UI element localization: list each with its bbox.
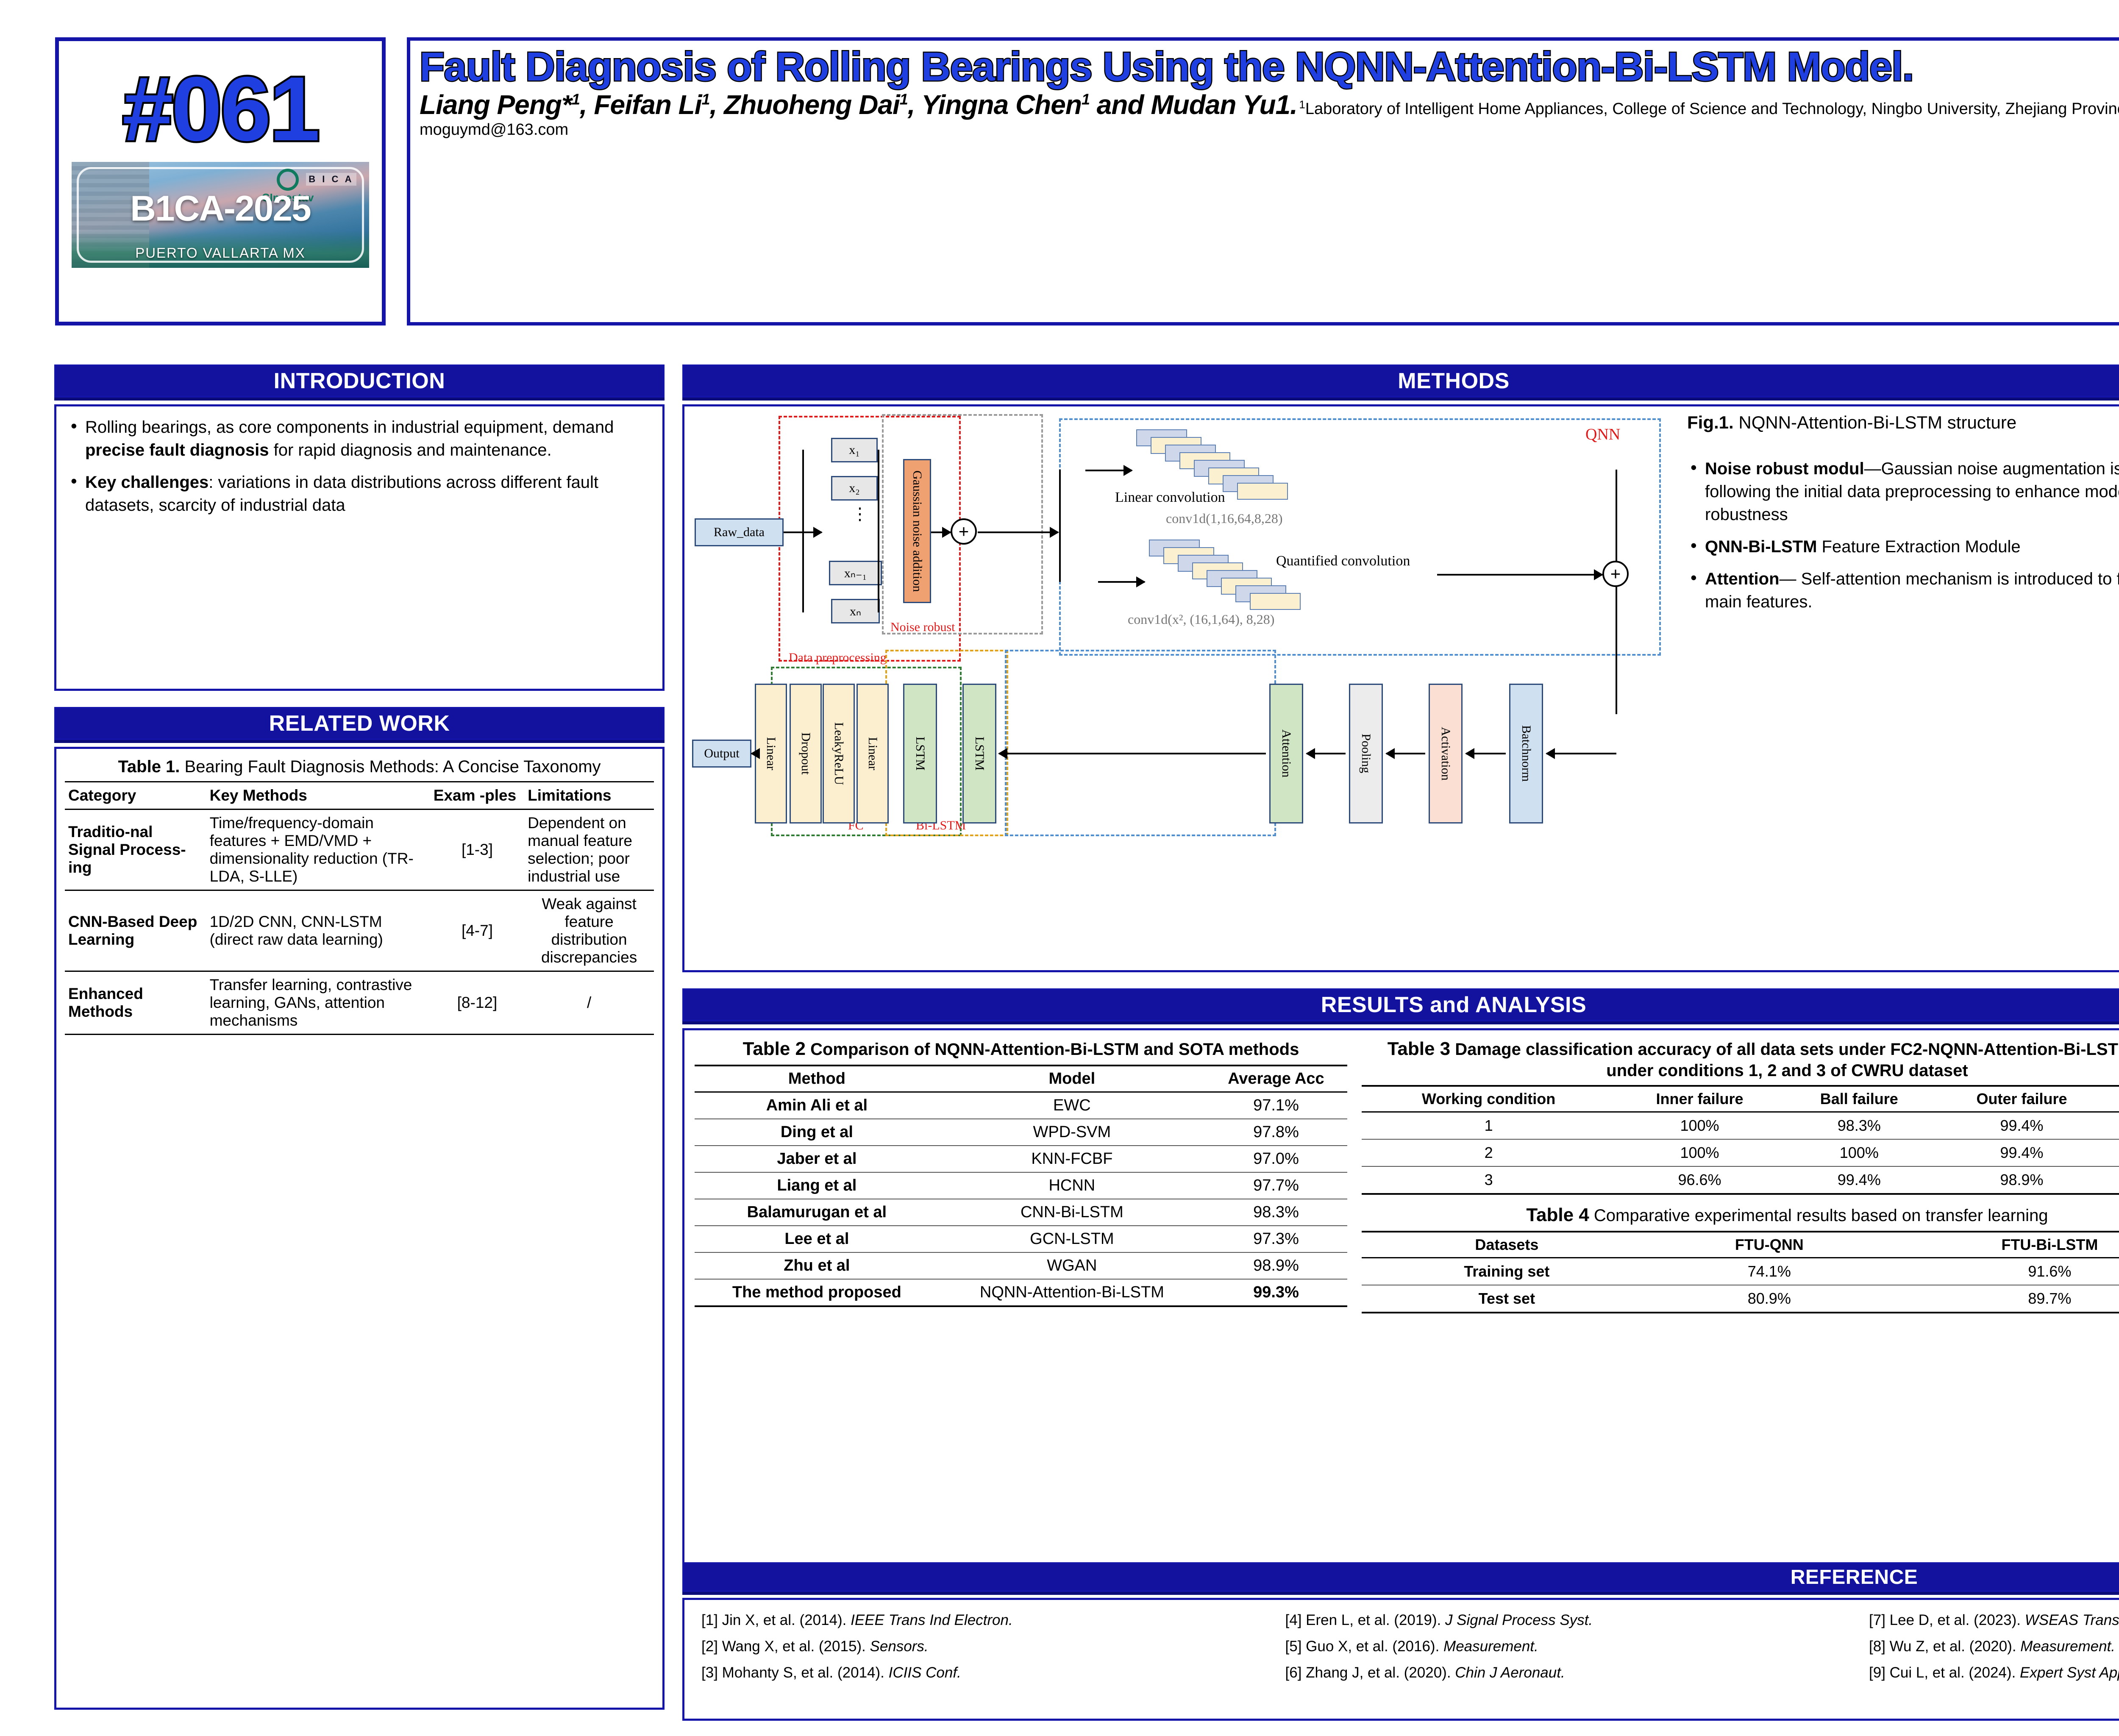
node-output: Output [692, 740, 751, 768]
table-header-row: Datasets FTU-QNN FTU-Bi-LSTM [1362, 1232, 2119, 1258]
group-qnn-lower [1005, 650, 1276, 836]
ref-source: Measurement. [1443, 1638, 1538, 1655]
ref-num: [6] Zhang J, et al. (2020). [1285, 1664, 1455, 1681]
methods-bullet-2-text: Feature Extraction Module [1817, 537, 2020, 556]
col-datasets: Datasets [1362, 1232, 1652, 1258]
ref-num: [7] Lee D, et al. (2023). [1869, 1612, 2025, 1628]
cell-dataset: Test set [1362, 1285, 1652, 1313]
col-model: Model [939, 1066, 1205, 1092]
col-ftu-bilstm: FTU-Bi-LSTM [1887, 1232, 2119, 1258]
node-lstm-2: LSTM [962, 684, 996, 823]
cell-acc: 98.3% [1205, 1199, 1347, 1226]
group-label-qnn: QNN [1585, 425, 1620, 444]
table-row: Traditio-nal Signal Process-ing Time/fre… [65, 810, 654, 890]
reference-item: [8] Wu Z, et al. (2020). Measurement. [1869, 1638, 2119, 1655]
introduction-bullets: Rolling bearings, as core components in … [67, 416, 651, 517]
ellipsis-vertical: ⋮ [851, 510, 868, 518]
table-row: 396.6%99.4%98.9%99.6% [1362, 1166, 2119, 1194]
node-activation: Activation [1429, 684, 1463, 823]
cell-ball: 98.3% [1784, 1112, 1935, 1139]
col-inner-failure: Inner failure [1616, 1086, 1784, 1112]
table1-caption-label: Table 1. [118, 757, 180, 776]
reference-body: [1] Jin X, et al. (2014). IEEE Trans Ind… [682, 1598, 2119, 1721]
section-header-methods: METHODS [682, 364, 2119, 398]
table3-caption-text: Damage classification accuracy of all da… [1450, 1040, 2119, 1080]
conference-title: B1CA-2025 [72, 188, 369, 229]
figure1-caption-label: Fig.1. [1687, 412, 1734, 432]
architecture-diagram: Data preprocessing Noise robust QNN FC B… [691, 412, 1674, 840]
split-bus [802, 450, 804, 612]
node-leakyrelu: LeakyReLU [823, 684, 855, 823]
cell-cond: 2 [1362, 1139, 1616, 1166]
arrow-sum-down [1616, 587, 1617, 714]
list-item: Key challenges: variations in data distr… [67, 471, 651, 517]
table4-caption-text: Comparative experimental results based o… [1589, 1206, 2048, 1225]
node-sum-2: + [1602, 561, 1629, 587]
methods-bullet-3-bold: Attention [1705, 570, 1780, 588]
arrow-act-to-pool [1386, 753, 1425, 754]
table-header-row: Working condition Inner failure Ball fai… [1362, 1086, 2119, 1112]
table4-caption: Table 4 Comparative experimental results… [1362, 1204, 2119, 1227]
node-x2: x₂ [831, 476, 878, 501]
table1-caption: Table 1. Bearing Fault Diagnosis Methods… [65, 757, 654, 777]
reference-item: [1] Jin X, et al. (2014). IEEE Trans Ind… [701, 1612, 1256, 1629]
cell-outer: 98.9% [1935, 1166, 2109, 1194]
table2-caption-text: Comparison of NQNN-Attention-Bi-LSTM and… [806, 1040, 1299, 1059]
ref-num: [8] Wu Z, et al. (2020). [1869, 1638, 2020, 1655]
cell-method: The method proposed [695, 1279, 939, 1306]
cell-acc: 98.9% [1205, 1252, 1347, 1279]
page-title: Fault Diagnosis of Rolling Bearings Usin… [420, 47, 2119, 87]
cell-ball: 99.4% [1784, 1166, 1935, 1194]
cell-methods: Time/frequency-domain features + EMD/VMD… [206, 810, 430, 890]
results-body: Table 2 Comparison of NQNN-Attention-Bi-… [682, 1028, 2119, 1572]
cell-category: Enhanced Methods [65, 971, 206, 1035]
conference-city: PUERTO VALLARTA MX [72, 245, 369, 261]
section-header-results: RESULTS and ANALYSIS [682, 988, 2119, 1021]
cell-method: Ding et al [695, 1119, 939, 1146]
arrow-sum-to-bn [1546, 753, 1616, 754]
col-ftu-qnn: FTU-QNN [1652, 1232, 1887, 1258]
cell-examples: [4-7] [430, 890, 524, 971]
ref-source: Chin J Aeronaut. [1455, 1664, 1565, 1681]
table-sota-comparison: Method Model Average Acc Amin Ali et alE… [695, 1065, 1347, 1307]
poster-id-badge: #061 CInvestav B I C A B1CA-2025 PUERTO … [55, 37, 386, 325]
table-row: Training set74.1%91.6% [1362, 1257, 2119, 1285]
section-header-related-work: RELATED WORK [54, 707, 665, 740]
cell-methods: 1D/2D CNN, CNN-LSTM (direct raw data lea… [206, 890, 430, 971]
table4-caption-label: Table 4 [1526, 1205, 1589, 1225]
list-item: Rolling bearings, as core components in … [67, 416, 651, 462]
table-row: CNN-Based Deep Learning 1D/2D CNN, CNN-L… [65, 890, 654, 971]
ref-num: [2] Wang X, et al. (2015). [701, 1638, 870, 1655]
col-outer-failure: Outer failure [1935, 1086, 2109, 1112]
methods-figure: Data preprocessing Noise robust QNN FC B… [691, 412, 1674, 964]
cell-limitations: Dependent on manual feature selection; p… [524, 810, 654, 890]
ref-source: J Signal Process Syst. [1445, 1612, 1593, 1628]
cell-method: Liang et al [695, 1172, 939, 1199]
cell-model: NQNN-Attention-Bi-LSTM [939, 1279, 1205, 1306]
arrow-gauss-to-sum [931, 531, 951, 533]
cell-cond: 3 [1362, 1166, 1616, 1194]
node-xn-1: xₙ₋₁ [829, 561, 882, 585]
cell-method: Zhu et al [695, 1252, 939, 1279]
col-average-acc: Average Acc [1205, 1066, 1347, 1092]
table-row: Balamurugan et alCNN-Bi-LSTM98.3% [695, 1199, 1347, 1226]
table3-caption-label: Table 3 [1388, 1038, 1450, 1059]
methods-body: Data preprocessing Noise robust QNN FC B… [682, 404, 2119, 972]
ref-source: Sensors. [870, 1638, 929, 1655]
reference-column-1: [1] Jin X, et al. (2014). IEEE Trans Ind… [701, 1612, 1256, 1691]
cinvestav-ring-icon [277, 169, 299, 191]
ref-source: IEEE Trans Ind Electron. [851, 1612, 1013, 1628]
label-linear-conv-params: conv1d(1,16,64,8,28) [1166, 511, 1283, 526]
qnn-split-bus [1059, 470, 1061, 582]
cell-dataset: Training set [1362, 1257, 1652, 1285]
arrow-pool-to-attn [1307, 753, 1346, 754]
cell-method: Amin Ali et al [695, 1092, 939, 1119]
cell-limitations: / [524, 971, 654, 1035]
poster-number: #061 [122, 63, 318, 154]
cell-ball: 100% [1784, 1139, 1935, 1166]
table-transfer-learning: Datasets FTU-QNN FTU-Bi-LSTM Training se… [1362, 1231, 2119, 1313]
bica-mark: B I C A [306, 173, 356, 186]
node-xn: xₙ [831, 599, 880, 623]
cell-category: CNN-Based Deep Learning [65, 890, 206, 971]
cell-normal: 100% [2109, 1112, 2119, 1139]
cell-inner: 96.6% [1616, 1166, 1784, 1194]
reference-item: [3] Mohanty S, et al. (2014). ICIIS Conf… [701, 1664, 1256, 1681]
ref-source: Measurement. [2020, 1638, 2115, 1655]
table-row: Test set80.9%89.7% [1362, 1285, 2119, 1313]
reference-columns: [1] Jin X, et al. (2014). IEEE Trans Ind… [684, 1600, 2119, 1698]
table34-wrapper: Table 3 Damage classification accuracy o… [1362, 1037, 2119, 1564]
table-row: Liang et alHCNN97.7% [695, 1172, 1347, 1199]
node-raw-data: Raw_data [695, 518, 784, 546]
node-batchnorm: Batchnorm [1509, 684, 1543, 823]
label-quant-conv-params: conv1d(x², (16,1,64), 8,28) [1128, 612, 1274, 627]
cell-outer: 99.4% [1935, 1112, 2109, 1139]
table-header-row: Method Model Average Acc [695, 1066, 1347, 1092]
cell-model: CNN-Bi-LSTM [939, 1199, 1205, 1226]
table-row: Lee et alGCN-LSTM97.3% [695, 1226, 1347, 1252]
arrow-to-output [751, 753, 755, 754]
cell-model: WGAN [939, 1252, 1205, 1279]
cell-ftu-qnn: 80.9% [1652, 1285, 1887, 1313]
reference-item: [5] Guo X, et al. (2016). Measurement. [1285, 1638, 1840, 1655]
cell-category: Traditio-nal Signal Process-ing [65, 810, 206, 890]
col-key-methods: Key Methods [206, 782, 430, 810]
col-working-condition: Working condition [1362, 1086, 1616, 1112]
reference-item: [2] Wang X, et al. (2015). Sensors. [701, 1638, 1256, 1655]
cell-ftu-bilstm: 91.6% [1887, 1257, 2119, 1285]
node-attention: Attention [1269, 684, 1303, 823]
reference-section: REFERENCE [1] Jin X, et al. (2014). IEEE… [682, 1562, 2119, 1721]
cell-model: HCNN [939, 1172, 1205, 1199]
table-header-row: Category Key Methods Exam -ples Limitati… [65, 782, 654, 810]
table2-caption-label: Table 2 [743, 1038, 806, 1059]
table2-wrapper: Table 2 Comparison of NQNN-Attention-Bi-… [695, 1037, 1347, 1564]
cell-method: Jaber et al [695, 1146, 939, 1172]
cell-model: WPD-SVM [939, 1119, 1205, 1146]
title-block: Fault Diagnosis of Rolling Bearings Usin… [407, 37, 2119, 325]
reference-item: [4] Eren L, et al. (2019). J Signal Proc… [1285, 1612, 1840, 1629]
node-sum-1: + [951, 518, 977, 545]
node-lstm-1: LSTM [903, 684, 937, 823]
cell-ftu-qnn: 74.1% [1652, 1257, 1887, 1285]
list-item: QNN-Bi-LSTM Feature Extraction Module [1687, 535, 2119, 558]
ref-source: WSEAS Trans Inf Sci Appl. [2025, 1612, 2119, 1628]
list-item: Attention— Self-attention mechanism is i… [1687, 568, 2119, 613]
col-method: Method [695, 1066, 939, 1092]
node-linear-2: Linear [856, 684, 889, 823]
reference-item: [9] Cui L, et al. (2024). Expert Syst Ap… [1869, 1664, 2119, 1681]
ref-num: [4] Eren L, et al. (2019). [1285, 1612, 1445, 1628]
cell-examples: [1-3] [430, 810, 524, 890]
ref-num: [5] Guo X, et al. (2016). [1285, 1638, 1444, 1655]
arrow-bn-to-act [1466, 753, 1506, 754]
ref-num: [9] Cui L, et al. (2024). [1869, 1664, 2020, 1681]
col-ball-failure: Ball failure [1784, 1086, 1935, 1112]
ref-num: [1] Jin X, et al. (2014). [701, 1612, 851, 1628]
cell-inner: 100% [1616, 1112, 1784, 1139]
cell-methods: Transfer learning, contrastive learning,… [206, 971, 430, 1035]
cell-acc: 97.0% [1205, 1146, 1347, 1172]
group-label-noise-robust: Noise robust [890, 620, 955, 634]
cell-method: Lee et al [695, 1226, 939, 1252]
merge-bus [878, 450, 879, 612]
node-dropout: Dropout [790, 684, 822, 823]
introduction-body: Rolling bearings, as core components in … [54, 404, 665, 691]
cell-model: KNN-FCBF [939, 1146, 1205, 1172]
methods-text: Fig.1. NQNN-Attention-Bi-LSTM structure … [1674, 412, 2119, 964]
reference-column-3: [7] Lee D, et al. (2023). WSEAS Trans In… [1869, 1612, 2119, 1691]
cell-acc: 97.8% [1205, 1119, 1347, 1146]
cell-inner: 100% [1616, 1139, 1784, 1166]
cell-acc: 97.1% [1205, 1092, 1347, 1119]
table3-caption: Table 3 Damage classification accuracy o… [1362, 1038, 2119, 1081]
table2-caption: Table 2 Comparison of NQNN-Attention-Bi-… [695, 1038, 1347, 1060]
table-row: Jaber et alKNN-FCBF97.0% [695, 1146, 1347, 1172]
arrow-to-linear-conv [1085, 470, 1132, 471]
table-row: 1100%98.3%99.4%100% [1362, 1112, 2119, 1139]
cell-outer: 99.4% [1935, 1139, 2109, 1166]
table-related-work: Category Key Methods Exam -ples Limitati… [65, 781, 654, 1035]
cell-acc: 97.7% [1205, 1172, 1347, 1199]
figure1-caption-text: NQNN-Attention-Bi-LSTM structure [1734, 412, 2017, 432]
table-row: Ding et alWPD-SVM97.8% [695, 1119, 1347, 1146]
col-normal: Normal [2109, 1086, 2119, 1112]
cell-normal: 99.6% [2109, 1166, 2119, 1194]
cell-examples: [8-12] [430, 971, 524, 1035]
table-row: Zhu et alWGAN98.9% [695, 1252, 1347, 1279]
methods-bullet-2-bold: QNN-Bi-LSTM [1705, 537, 1817, 556]
conference-logo: CInvestav B I C A B1CA-2025 PUERTO VALLA… [72, 162, 369, 268]
node-x1: x₁ [831, 438, 878, 462]
author-list: Liang Peng*1, Feifan Li1, Zhuoheng Dai1,… [420, 89, 1297, 120]
label-linear-convolution: Linear convolution [1115, 490, 1225, 506]
arrow-to-quant-conv [1098, 581, 1145, 583]
table-damage-classification: Working condition Inner failure Ball fai… [1362, 1085, 2119, 1195]
methods-bullets: Noise robust modul—Gaussian noise augmen… [1687, 457, 2119, 613]
ref-source: ICIIS Conf. [889, 1664, 961, 1681]
reference-item: [6] Zhang J, et al. (2020). Chin J Aeron… [1285, 1664, 1840, 1681]
cell-method: Balamurugan et al [695, 1199, 939, 1226]
cell-limitations: Weak against feature distribution discre… [524, 890, 654, 971]
left-column: INTRODUCTION Rolling bearings, as core c… [54, 364, 665, 1710]
table-row: Amin Ali et alEWC97.1% [695, 1092, 1347, 1119]
cell-cond: 1 [1362, 1112, 1616, 1139]
list-item: Noise robust modul—Gaussian noise augmen… [1687, 457, 2119, 526]
cell-normal: 100% [2109, 1139, 2119, 1166]
section-header-reference: REFERENCE [682, 1562, 2119, 1592]
arrow-quant-to-sum [1437, 574, 1602, 576]
col-examples: Exam -ples [430, 782, 524, 810]
cell-acc: 97.3% [1205, 1226, 1347, 1252]
node-gaussian-noise: Gaussian noise addition [903, 459, 931, 603]
cell-acc: 99.3% [1205, 1279, 1347, 1306]
methods-bullet-1-bold: Noise robust modul [1705, 459, 1864, 478]
ref-source: Expert Syst Appl. [2020, 1664, 2119, 1681]
cell-ftu-bilstm: 89.7% [1887, 1285, 2119, 1313]
section-header-introduction: INTRODUCTION [54, 364, 665, 398]
col-category: Category [65, 782, 206, 810]
table-row: Enhanced Methods Transfer learning, cont… [65, 971, 654, 1035]
cell-model: GCN-LSTM [939, 1226, 1205, 1252]
reference-item: [7] Lee D, et al. (2023). WSEAS Trans In… [1869, 1612, 2119, 1629]
ref-num: [3] Mohanty S, et al. (2014). [701, 1664, 889, 1681]
related-work-body: Table 1. Bearing Fault Diagnosis Methods… [54, 747, 665, 1710]
arrow-attention-to-lstm [999, 753, 1266, 754]
cell-model: EWC [939, 1092, 1205, 1119]
table-row: The method proposedNQNN-Attention-Bi-LST… [695, 1279, 1347, 1306]
figure1-caption: Fig.1. NQNN-Attention-Bi-LSTM structure [1687, 412, 2119, 433]
group-label-data-preprocessing: Data preprocessing [789, 651, 887, 665]
col-limitations: Limitations [524, 782, 654, 810]
table1-caption-text: Bearing Fault Diagnosis Methods: A Conci… [180, 757, 601, 776]
middle-column: METHODS Data preprocessing Noise robust … [682, 364, 2119, 1572]
label-quantified-convolution: Quantified convolution [1276, 553, 1410, 569]
reference-column-2: [4] Eren L, et al. (2019). J Signal Proc… [1285, 1612, 1840, 1691]
qnn-merge-bus [1616, 470, 1617, 561]
table-row: 2100%100%99.4%100% [1362, 1139, 2119, 1166]
poster-root: #061 CInvestav B I C A B1CA-2025 PUERTO … [0, 0, 2119, 1736]
node-pooling: Pooling [1349, 684, 1383, 823]
arrow-sum-to-qnn [978, 531, 1058, 533]
